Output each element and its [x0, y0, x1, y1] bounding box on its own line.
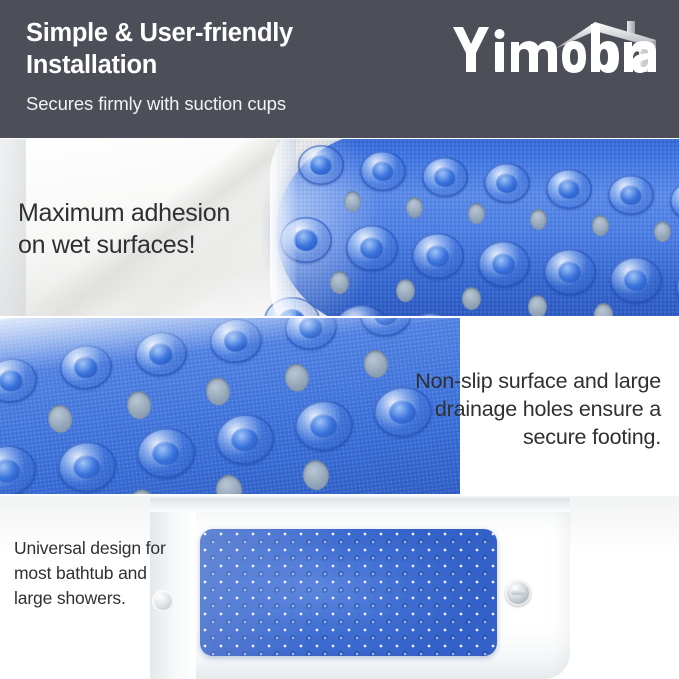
bathtub-drain	[505, 580, 531, 606]
caption-line-2: on wet surfaces!	[18, 229, 280, 261]
panel-universal-design: Universal design for most bathtub and la…	[0, 496, 679, 679]
caption-line-2: drainage holes ensure a	[389, 396, 661, 424]
rolled-mat-photo	[262, 139, 679, 316]
drainage-hole	[654, 221, 671, 242]
suction-cup	[0, 442, 39, 494]
drainage-hole	[214, 473, 243, 494]
drainage-hole	[462, 287, 481, 310]
bath-mat-gloss	[200, 529, 378, 656]
suction-cup	[292, 397, 356, 454]
drainage-hole	[283, 362, 310, 393]
panel-maximum-adhesion: Maximum adhesion on wet surfaces!	[0, 139, 679, 316]
drainage-hole	[125, 390, 152, 421]
header-title-line2: Installation	[26, 50, 446, 82]
suction-cup	[346, 225, 398, 271]
panel-universal-caption: Universal design for most bathtub and la…	[14, 536, 194, 611]
suction-cup	[298, 145, 344, 185]
panel-adhesion-caption: Maximum adhesion on wet surfaces!	[18, 197, 280, 261]
product-feature-image: Simple & User-friendly Installation Secu…	[0, 0, 679, 679]
suction-cup	[670, 181, 679, 221]
drainage-hole	[396, 279, 415, 302]
suction-cup	[484, 163, 530, 203]
header-text-block: Simple & User-friendly Installation Secu…	[26, 18, 446, 116]
suction-cup	[404, 313, 460, 316]
caption-line-3: secure footing.	[389, 424, 661, 452]
suction-cup	[360, 151, 406, 191]
suction-cup	[412, 233, 464, 279]
caption-line-2: most bathtub and	[14, 561, 194, 586]
drainage-hole	[204, 376, 231, 407]
panel-non-slip: Non-slip surface and large drainage hole…	[0, 318, 679, 494]
header-banner: Simple & User-friendly Installation Secu…	[0, 0, 679, 138]
drainage-hole	[344, 191, 361, 212]
suction-cup	[213, 411, 277, 468]
header-title-line1: Simple & User-friendly	[26, 18, 446, 50]
rolled-mat-body	[276, 139, 679, 316]
drainage-hole	[301, 459, 330, 492]
drainage-hole	[530, 209, 547, 230]
drainage-hole	[468, 203, 485, 224]
suction-cup	[134, 425, 198, 482]
drainage-hole	[47, 403, 74, 434]
caption-line-1: Maximum adhesion	[18, 197, 280, 229]
caption-line-3: large showers.	[14, 586, 194, 611]
brand-logo	[443, 18, 663, 80]
drainage-hole	[362, 349, 389, 380]
drainage-hole	[330, 271, 349, 294]
suction-cup	[334, 305, 390, 316]
suction-cup	[608, 175, 654, 215]
suction-cup	[546, 169, 592, 209]
drainage-hole	[528, 295, 547, 316]
suction-cup	[610, 257, 662, 303]
bath-mat-in-tub	[200, 529, 497, 656]
drainage-hole	[592, 215, 609, 236]
header-title: Simple & User-friendly Installation	[26, 18, 446, 82]
caption-line-1: Non-slip surface and large	[389, 368, 661, 396]
suction-cup	[544, 249, 596, 295]
bathtub-top-lip	[150, 498, 570, 512]
caption-line-1: Universal design for	[14, 536, 194, 561]
drainage-hole	[594, 303, 613, 316]
drainage-hole	[406, 197, 423, 218]
header-subtitle: Secures firmly with suction cups	[26, 92, 446, 116]
suction-cup	[422, 157, 468, 197]
suction-cup	[55, 438, 119, 494]
panel-nonslip-caption: Non-slip surface and large drainage hole…	[389, 368, 661, 452]
drainage-hole	[127, 488, 156, 494]
suction-cup	[478, 241, 530, 287]
